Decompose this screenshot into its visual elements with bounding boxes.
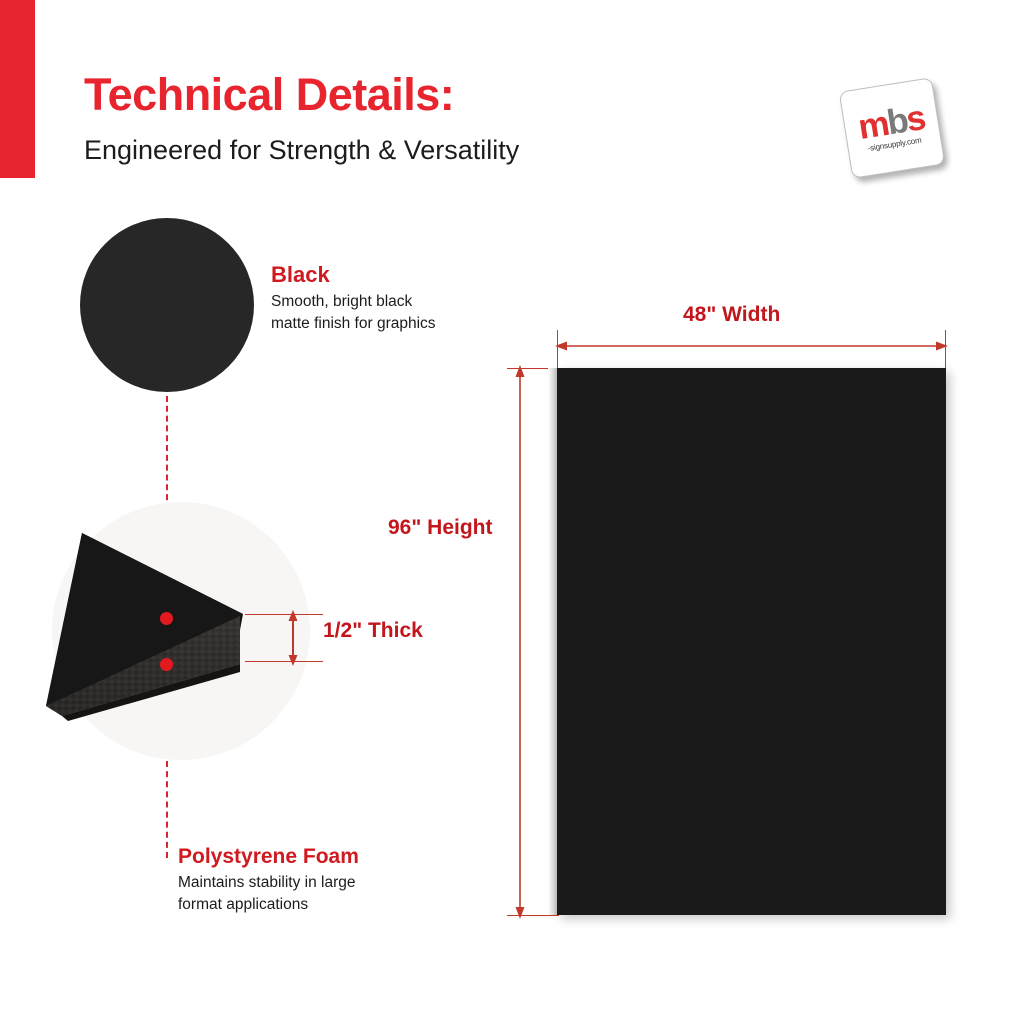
marker-dot-core xyxy=(160,658,173,671)
foam-board-wedge xyxy=(40,500,320,762)
foam-board-panel xyxy=(557,368,946,915)
width-label: 48" Width xyxy=(683,303,780,327)
callout-foam-body-line1: Maintains stability in large xyxy=(178,872,448,894)
callout-foam-heading: Polystyrene Foam xyxy=(178,845,448,868)
callout-black-heading: Black xyxy=(271,263,511,287)
callout-black-body: Smooth, bright black matte finish for gr… xyxy=(271,291,511,335)
callout-black: Black Smooth, bright black matte finish … xyxy=(271,263,511,335)
logo-wordmark: mbs xyxy=(856,102,926,143)
callout-black-body-line1: Smooth, bright black xyxy=(271,291,511,313)
page-title: Technical Details: xyxy=(84,72,454,117)
thickness-label: 1/2" Thick xyxy=(323,619,423,643)
thickness-extension-top xyxy=(245,614,323,615)
infographic-canvas: Technical Details: Engineered for Streng… xyxy=(0,0,1024,1024)
board-left-edge xyxy=(548,368,557,915)
page-subtitle: Engineered for Strength & Versatility xyxy=(84,137,519,164)
width-arrow xyxy=(552,339,951,353)
header-accent-bar xyxy=(0,0,35,178)
black-color-swatch xyxy=(80,218,254,392)
brand-logo[interactable]: mbs -signsupply.com xyxy=(839,77,946,179)
marker-dot-surface xyxy=(160,612,173,625)
edge-cross-section-illustration xyxy=(40,500,320,762)
callout-polystyrene-foam: Polystyrene Foam Maintains stability in … xyxy=(178,845,448,916)
height-label: 96" Height xyxy=(388,516,492,540)
height-arrow xyxy=(513,362,527,922)
callout-foam-body: Maintains stability in large format appl… xyxy=(178,872,448,916)
thickness-extension-bottom xyxy=(245,661,323,662)
callout-foam-body-line2: format applications xyxy=(178,894,448,916)
callout-black-body-line2: matte finish for graphics xyxy=(271,313,511,335)
thickness-arrow xyxy=(286,608,300,668)
